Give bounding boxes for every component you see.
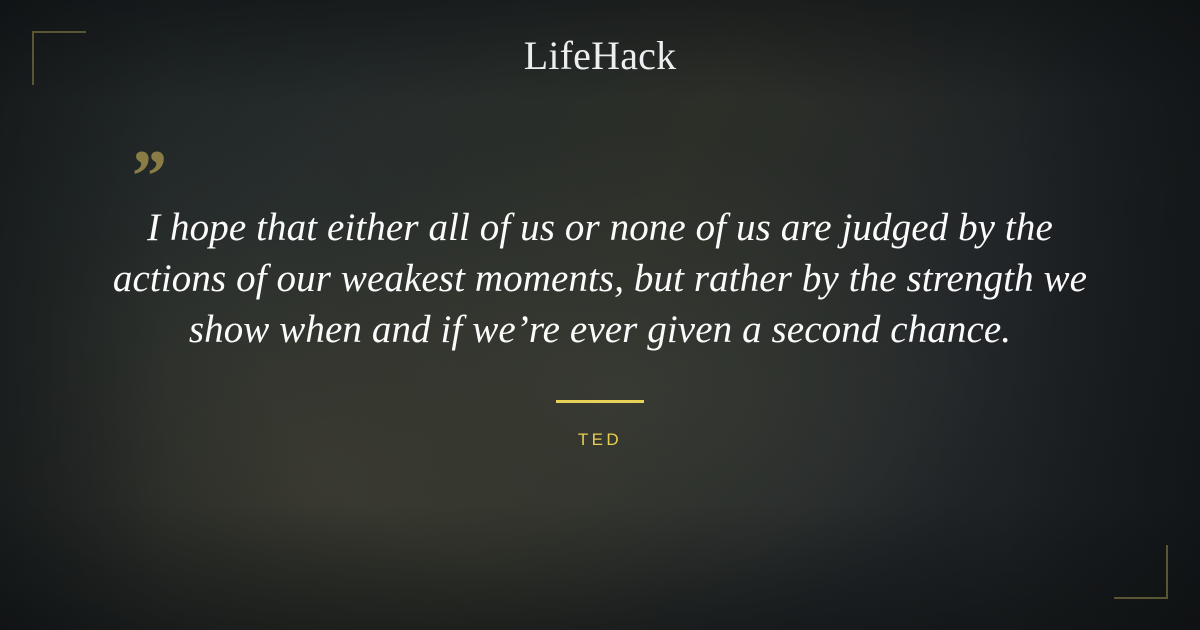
quote-card: LifeHack ” I hope that either all of us … <box>0 0 1200 630</box>
quote-block: ” I hope that either all of us or none o… <box>100 140 1100 355</box>
attribution-source: TED <box>0 431 1200 448</box>
quote-text: I hope that either all of us or none of … <box>110 202 1090 355</box>
quote-line: I hope that either all of us or none of … <box>147 206 1053 249</box>
brand-logo: LifeHack <box>0 36 1200 76</box>
attribution: TED <box>0 400 1200 448</box>
quote-line: actions of our weakest moments, but rath… <box>113 257 1034 300</box>
attribution-divider <box>556 400 644 403</box>
quotation-mark-icon: ” <box>128 140 1100 192</box>
